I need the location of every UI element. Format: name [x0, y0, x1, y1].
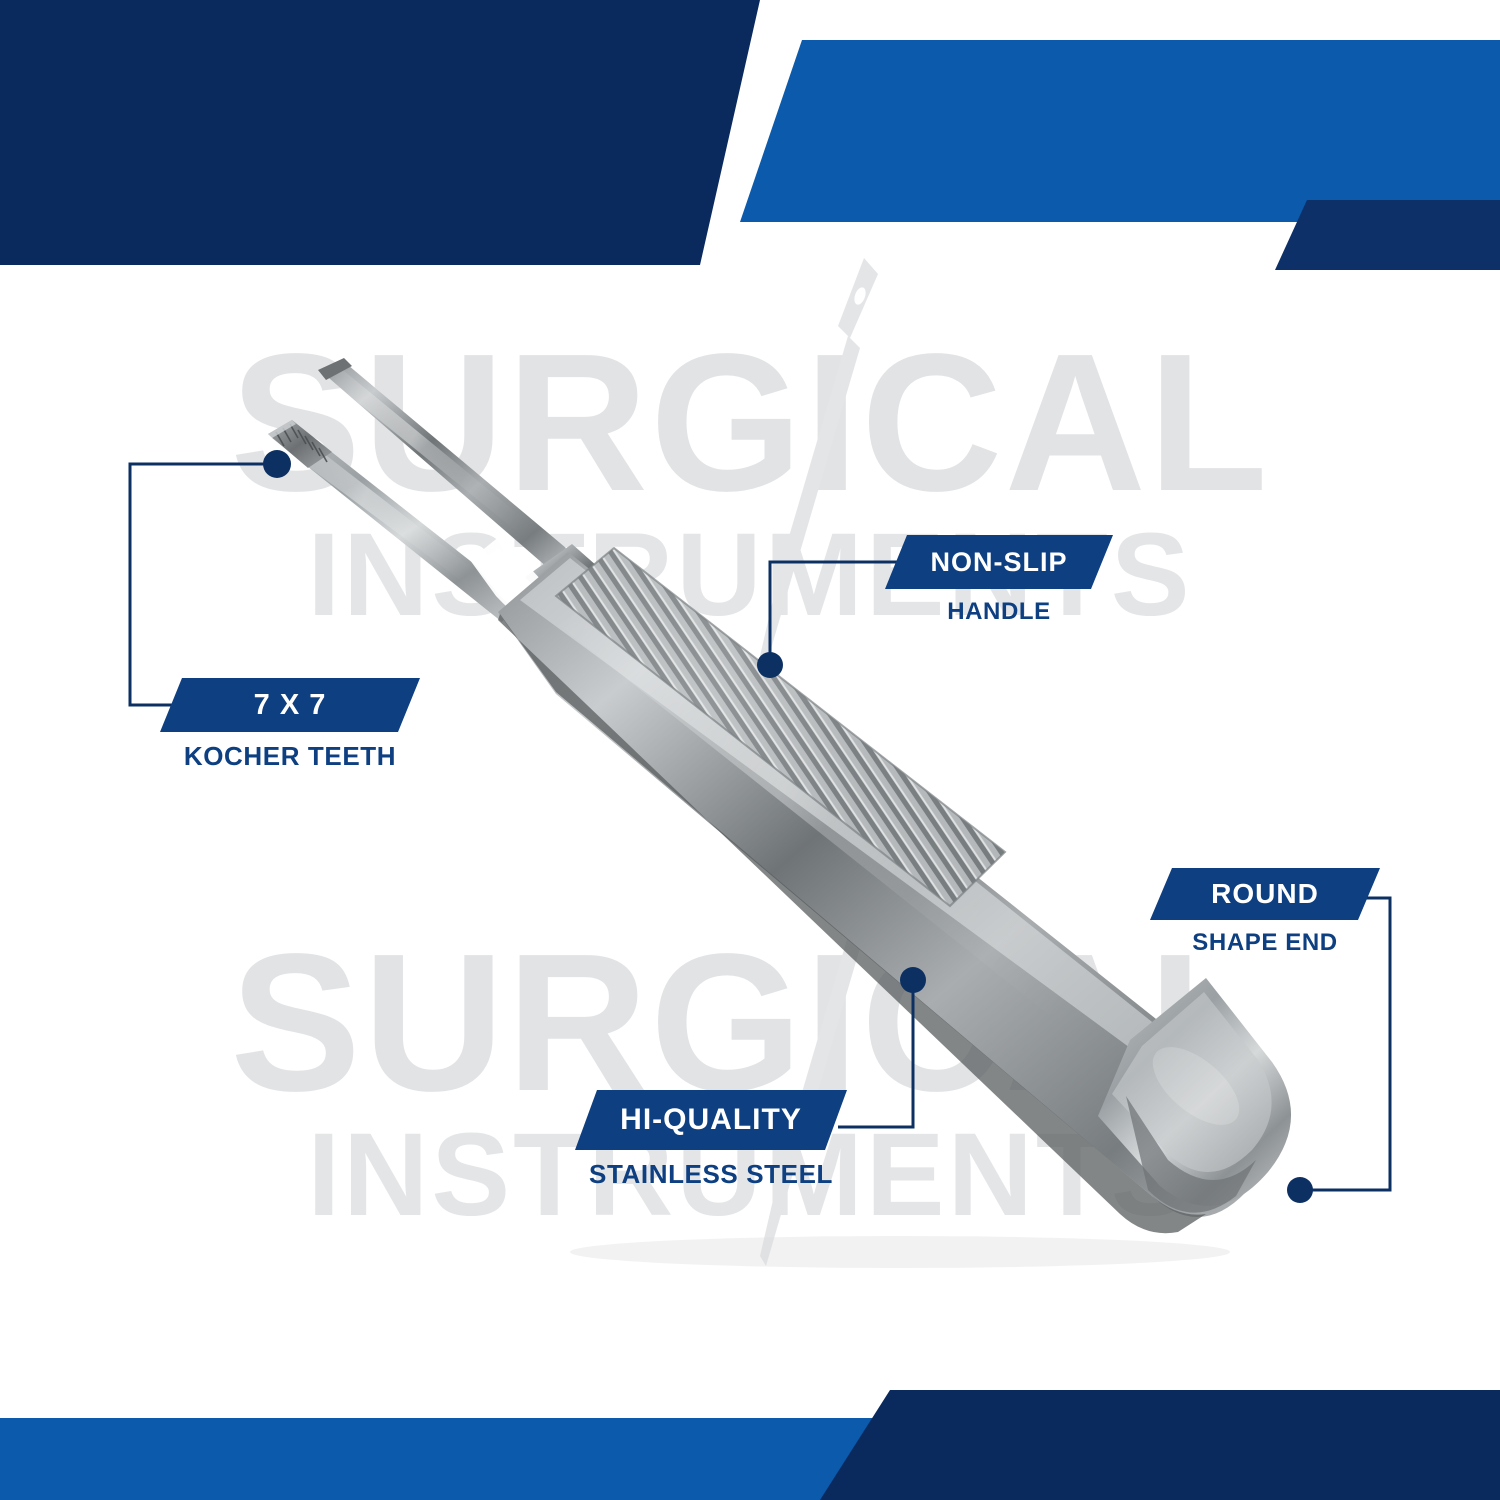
callout-sub-kocher-teeth: KOCHER TEETH: [160, 741, 420, 772]
leader-hi-quality-steel: [838, 967, 926, 1127]
callout-sub-shape-end: SHAPE END: [1150, 929, 1380, 957]
callout-tag-round: ROUND: [1150, 868, 1380, 920]
callout-round-shape-end[interactable]: ROUND SHAPE END: [1150, 868, 1380, 957]
leader-kocher-teeth: [130, 450, 291, 705]
callout-tag-kocher-teeth: 7 X 7: [160, 678, 420, 732]
leader-non-slip-handle: [757, 562, 900, 678]
callout-sub-handle: HANDLE: [885, 598, 1113, 626]
callout-sub-stainless-steel: STAINLESS STEEL: [575, 1159, 847, 1190]
callout-tag-non-slip: NON-SLIP: [885, 535, 1113, 589]
infographic-canvas: SURGICAL INSTRUMENTS SURGICAL INSTRUMENT…: [0, 0, 1500, 1500]
callout-kocher-teeth[interactable]: 7 X 7 KOCHER TEETH: [160, 678, 420, 772]
callout-non-slip-handle[interactable]: NON-SLIP HANDLE: [885, 535, 1113, 626]
callout-tag-hi-quality: HI-QUALITY: [575, 1090, 847, 1150]
callout-hi-quality-steel[interactable]: HI-QUALITY STAINLESS STEEL: [575, 1090, 847, 1190]
